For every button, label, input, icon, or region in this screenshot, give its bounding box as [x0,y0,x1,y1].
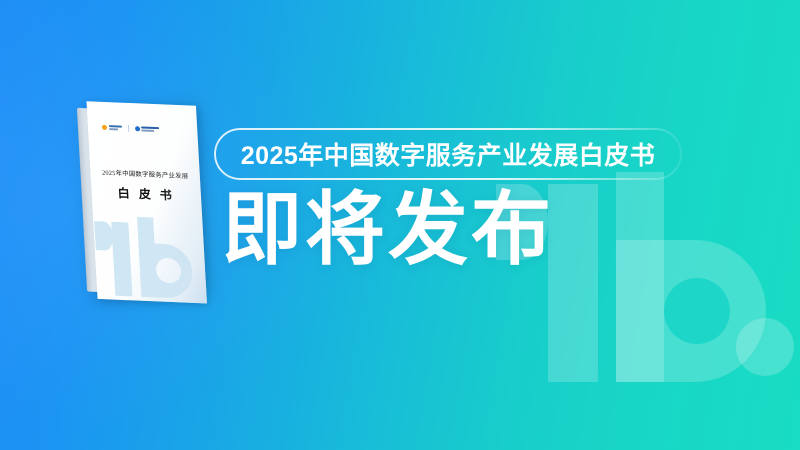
whitepaper-title: 2025年中国数字服务产业发展白皮书 [214,128,682,180]
logo-mark-blue [134,126,139,131]
logo-bar [141,129,154,131]
logo-mark-orange [102,125,107,130]
book-cover-watermark-1d-icon [99,215,207,301]
partner-logo-blue-icon [134,126,159,132]
whitepaper-book-mockup: 2025年中国数字服务产业发展 白 皮 书 [77,95,218,302]
watermark-one-stem [548,184,598,382]
watermark-dot [736,318,794,376]
watermark-d-counter [664,278,730,344]
partner-logo-orange-icon [102,125,122,131]
promo-banner: 2025年中国数字服务产业发展 白 皮 书 2025年中国数字服务产业发展白皮书… [0,0,800,450]
headline-text: 即将发布 [222,190,554,270]
book-watermark-one-stem [111,222,132,297]
logo-divider [127,125,128,132]
book-cover-title: 2025年中国数字服务产业发展 [90,167,200,181]
background-watermark-1d-icon [540,172,800,390]
book-cover: 2025年中国数字服务产业发展 白 皮 书 [87,101,207,303]
book-partner-logos [102,124,160,133]
logo-wordmark-left [108,125,121,130]
logo-bar [109,128,118,130]
book-cover-subtitle: 白 皮 书 [91,183,201,205]
logo-wordmark-right [141,127,159,132]
